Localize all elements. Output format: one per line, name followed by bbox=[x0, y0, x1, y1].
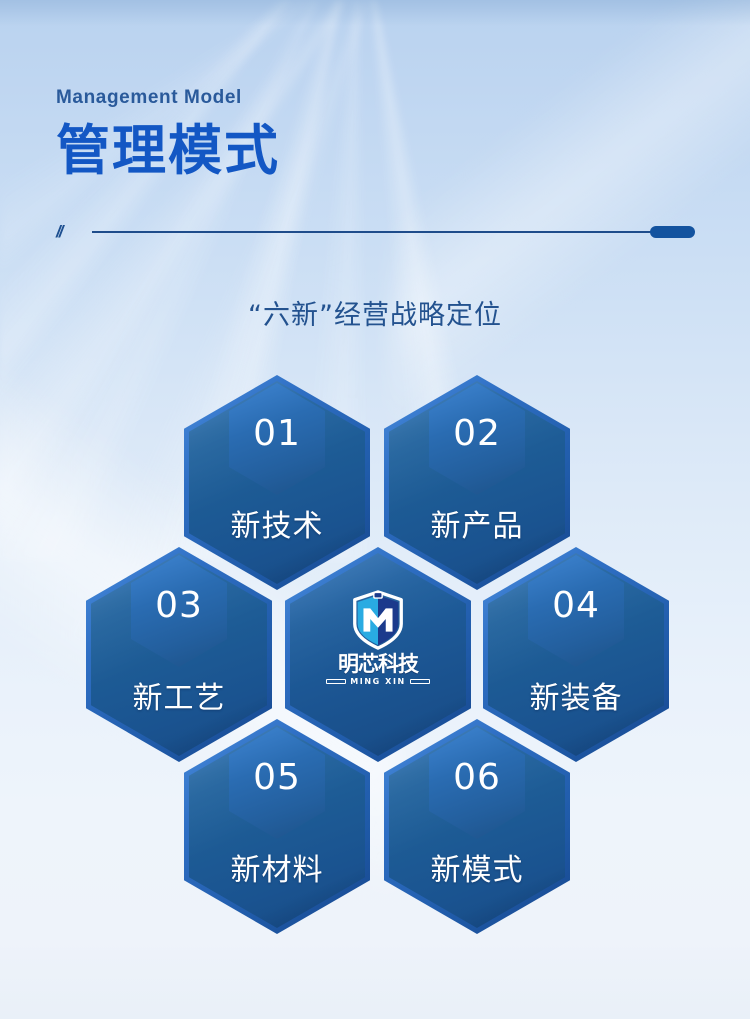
hex-number: 03 bbox=[155, 585, 203, 626]
hex-number: 05 bbox=[253, 757, 301, 798]
hex-number: 04 bbox=[552, 585, 600, 626]
hex-number: 06 bbox=[453, 757, 501, 798]
hex-label: 新模式 bbox=[384, 845, 570, 889]
hex-number: 02 bbox=[453, 413, 501, 454]
company-logo: 明芯科技 MING XIN bbox=[285, 589, 471, 686]
hex-label: 新材料 bbox=[184, 845, 370, 889]
shield-m-logo-icon bbox=[347, 589, 409, 651]
logo-company-name-cn: 明芯科技 bbox=[338, 653, 418, 676]
honeycomb-diagram: 01 新技术 02 新产品 03 新工艺 bbox=[0, 0, 750, 1019]
logo-banner-bar-right bbox=[410, 679, 430, 684]
hex-label: 新产品 bbox=[384, 501, 570, 545]
hex-cell-06[interactable]: 06 新模式 bbox=[384, 719, 570, 934]
logo-company-name-en: MING XIN bbox=[350, 677, 406, 686]
logo-banner-bar-left bbox=[326, 679, 346, 684]
hex-label: 新工艺 bbox=[86, 673, 272, 717]
hex-cell-05[interactable]: 05 新材料 bbox=[184, 719, 370, 934]
hex-label: 新技术 bbox=[184, 501, 370, 545]
logo-banner: MING XIN bbox=[326, 677, 430, 686]
hex-label: 新装备 bbox=[483, 673, 669, 717]
hex-number: 01 bbox=[253, 413, 301, 454]
poster-page: Management Model 管理模式 // “六新”经营战略定位 01 新… bbox=[0, 0, 750, 1019]
